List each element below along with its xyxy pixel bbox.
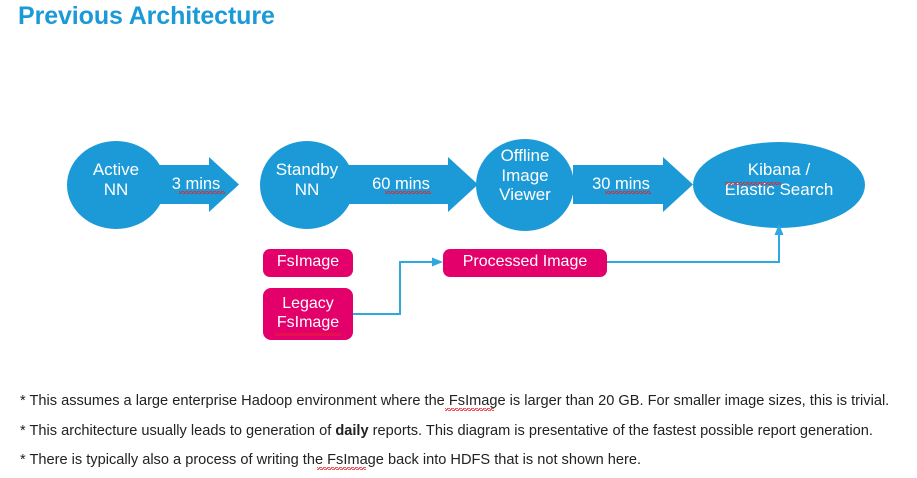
box-fsimage-shape <box>263 249 353 277</box>
slide-canvas: Previous Architecture <box>0 0 917 478</box>
node-kibana-shape <box>693 142 865 228</box>
arrow-label-3-mins: 3 mins <box>160 176 232 193</box>
connector-processed-to-kibana <box>607 233 779 262</box>
footnote-2-text-pre: * This architecture usually leads to gen… <box>20 423 335 439</box>
node-active-nn-shape <box>67 141 165 229</box>
footnotes-list: * This assumes a large enterprise Hadoop… <box>20 394 900 478</box>
arrow-label-60-mins: 60 mins <box>356 176 446 193</box>
box-legacy-fsimage-shape <box>263 288 353 340</box>
node-standby-nn-shape <box>260 141 354 229</box>
footnote-item: * This architecture usually leads to gen… <box>20 424 900 439</box>
connector-legacy-to-processed <box>353 262 434 314</box>
box-processed-image-shape <box>443 249 607 277</box>
footnote-3-text: * There is typically also a process of w… <box>20 452 641 468</box>
footnote-2-text-post: reports. This diagram is presentative of… <box>369 423 873 439</box>
footnote-item: * There is typically also a process of w… <box>20 453 900 468</box>
footnote-1-text: * This assumes a large enterprise Hadoop… <box>20 393 889 409</box>
node-offline-viewer-shape <box>476 139 574 231</box>
footnote-item: * This assumes a large enterprise Hadoop… <box>20 394 900 409</box>
arrow-label-30-mins: 30 mins <box>578 176 664 193</box>
footnote-2-text-bold: daily <box>335 423 368 439</box>
connector-legacy-to-processed-arrowhead <box>432 258 443 267</box>
